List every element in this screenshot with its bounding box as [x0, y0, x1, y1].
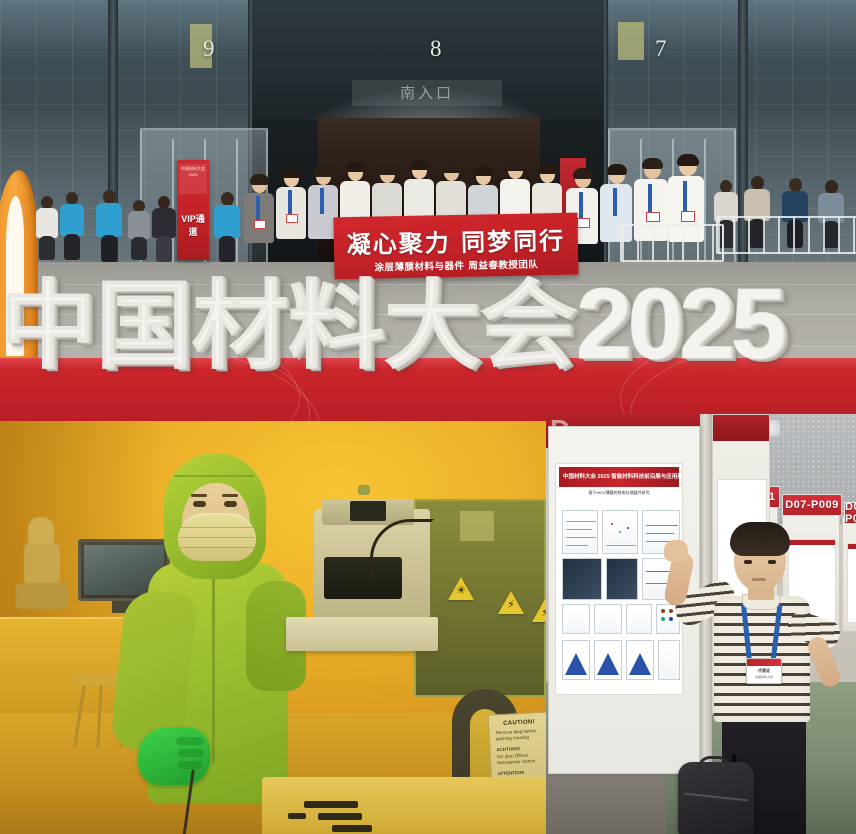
big-letter-3: 材	[192, 281, 288, 372]
suit-zipper	[212, 573, 215, 763]
conference-poster: 中国材料大会 2025 智能材料科技前沿展与应用展 基于HfO2薄膜的铁电存储器…	[555, 463, 683, 695]
standee-title: 中国材料大会2025	[179, 164, 207, 194]
poster-figure	[562, 604, 590, 634]
entrance-number-8: 8	[430, 36, 442, 62]
banner-main-text: 凝心聚力 同梦同行	[334, 221, 579, 261]
entrance-number-7: 7	[655, 36, 667, 62]
crowd-person	[128, 200, 150, 260]
crowd-person	[152, 196, 176, 262]
badge-name: 代表证	[747, 668, 781, 674]
poster-triangle-plot	[562, 640, 590, 680]
cleanroom-photo-panel: ☀ ⚡ ⚡ CAUTION! Remove plug before openin…	[0, 421, 546, 834]
presenter-mouth	[752, 578, 766, 581]
conference-badge: 代表证 中国材料大会	[746, 658, 782, 684]
poster-figure	[562, 510, 598, 554]
turret-dark-block	[350, 501, 386, 521]
presenter-eye	[768, 560, 776, 564]
green-glove	[138, 727, 210, 785]
photo-collage: 南入口 9 8 7 中国材料大会2025 VIP通道	[0, 0, 856, 834]
face-mask	[178, 513, 256, 561]
big-letter-4: 料	[288, 281, 384, 372]
poster-title: 基于HfO2薄膜的铁电存储器件研究	[562, 490, 676, 496]
poster-presenter: 代表证 中国材料大会	[692, 518, 842, 834]
far-poster-board-3	[842, 516, 856, 632]
entrance-number-9: 9	[203, 36, 215, 62]
caution-title: CAUTION!	[489, 718, 546, 727]
big-letter-1: 中	[0, 281, 96, 372]
instrument-base-table	[262, 777, 546, 834]
poster-micrograph	[606, 558, 638, 600]
eye	[193, 501, 206, 507]
poster-triangle-plot	[626, 640, 654, 680]
poster-figure	[602, 510, 638, 554]
poster-header-banner: 中国材料大会 2025 智能材料科技前沿展与应用展	[559, 467, 679, 487]
crowd-barrier	[620, 224, 724, 262]
crowd-person-staff	[60, 192, 84, 260]
badge-header	[747, 659, 781, 666]
laser-warning-icon: ☀	[448, 577, 474, 600]
big-letter-5: 大	[384, 281, 480, 372]
presenter-hand	[664, 540, 688, 562]
facade-mullion	[738, 0, 748, 300]
caution-line: opening housing	[496, 734, 544, 742]
eye	[224, 501, 237, 507]
eyebrow	[191, 494, 207, 497]
poster-figure	[594, 604, 622, 634]
presenter-eye	[744, 560, 752, 564]
cabinet-panel	[460, 511, 494, 541]
big-year-2025: 2025	[576, 277, 782, 372]
eyebrow	[222, 494, 238, 497]
crowd-person-staff	[214, 192, 240, 262]
board-id-d07-partial: D07-P0	[844, 502, 856, 524]
group-member	[276, 170, 306, 270]
caution-line: Netzstecker ziehen	[497, 758, 545, 766]
adjacent-board-header	[713, 415, 770, 441]
poster-session-photo-panel: D D07-P011 D07-P009 D07-P0	[546, 414, 856, 834]
poster-figure	[626, 604, 652, 634]
poster-micrograph	[562, 558, 602, 600]
board-id-d07-p009: D07-P009	[782, 494, 842, 516]
group-photo-panel: 南入口 9 8 7 中国材料大会2025 VIP通道	[0, 0, 856, 421]
crowd-person	[36, 196, 58, 260]
electrical-warning-icon: ⚡	[498, 591, 524, 614]
poster-triangle-plot	[594, 640, 622, 680]
poster-figure	[658, 640, 680, 680]
crowd-person-staff	[96, 190, 122, 262]
conference-name-letters: 中 国 材 料 大 会 2025	[0, 262, 856, 372]
presenter-hip-forearm	[805, 634, 843, 690]
group-member	[244, 176, 274, 272]
badge-subtitle: 中国材料大会	[747, 675, 781, 679]
backpack-handle	[698, 756, 730, 768]
electrical-warning-icon-2: ⚡	[532, 599, 546, 622]
background-microscope	[16, 517, 68, 615]
big-letter-2: 国	[96, 281, 192, 372]
entrance-sign: 南入口	[352, 80, 502, 106]
ventilation-panel	[618, 22, 644, 60]
big-letter-6: 会	[480, 281, 576, 372]
lithography-instrument: ☀ ⚡ ⚡ CAUTION! Remove plug before openin…	[262, 491, 546, 831]
instrument-sample-stage	[286, 617, 438, 651]
vip-banner-standee: 中国材料大会2025 VIP通道	[177, 160, 209, 260]
cabinet-knob	[358, 485, 370, 495]
hood-seam	[174, 457, 254, 477]
crowd-barrier	[716, 216, 856, 254]
vip-label: VIP通道	[177, 212, 209, 238]
presenter-hair	[730, 522, 790, 556]
